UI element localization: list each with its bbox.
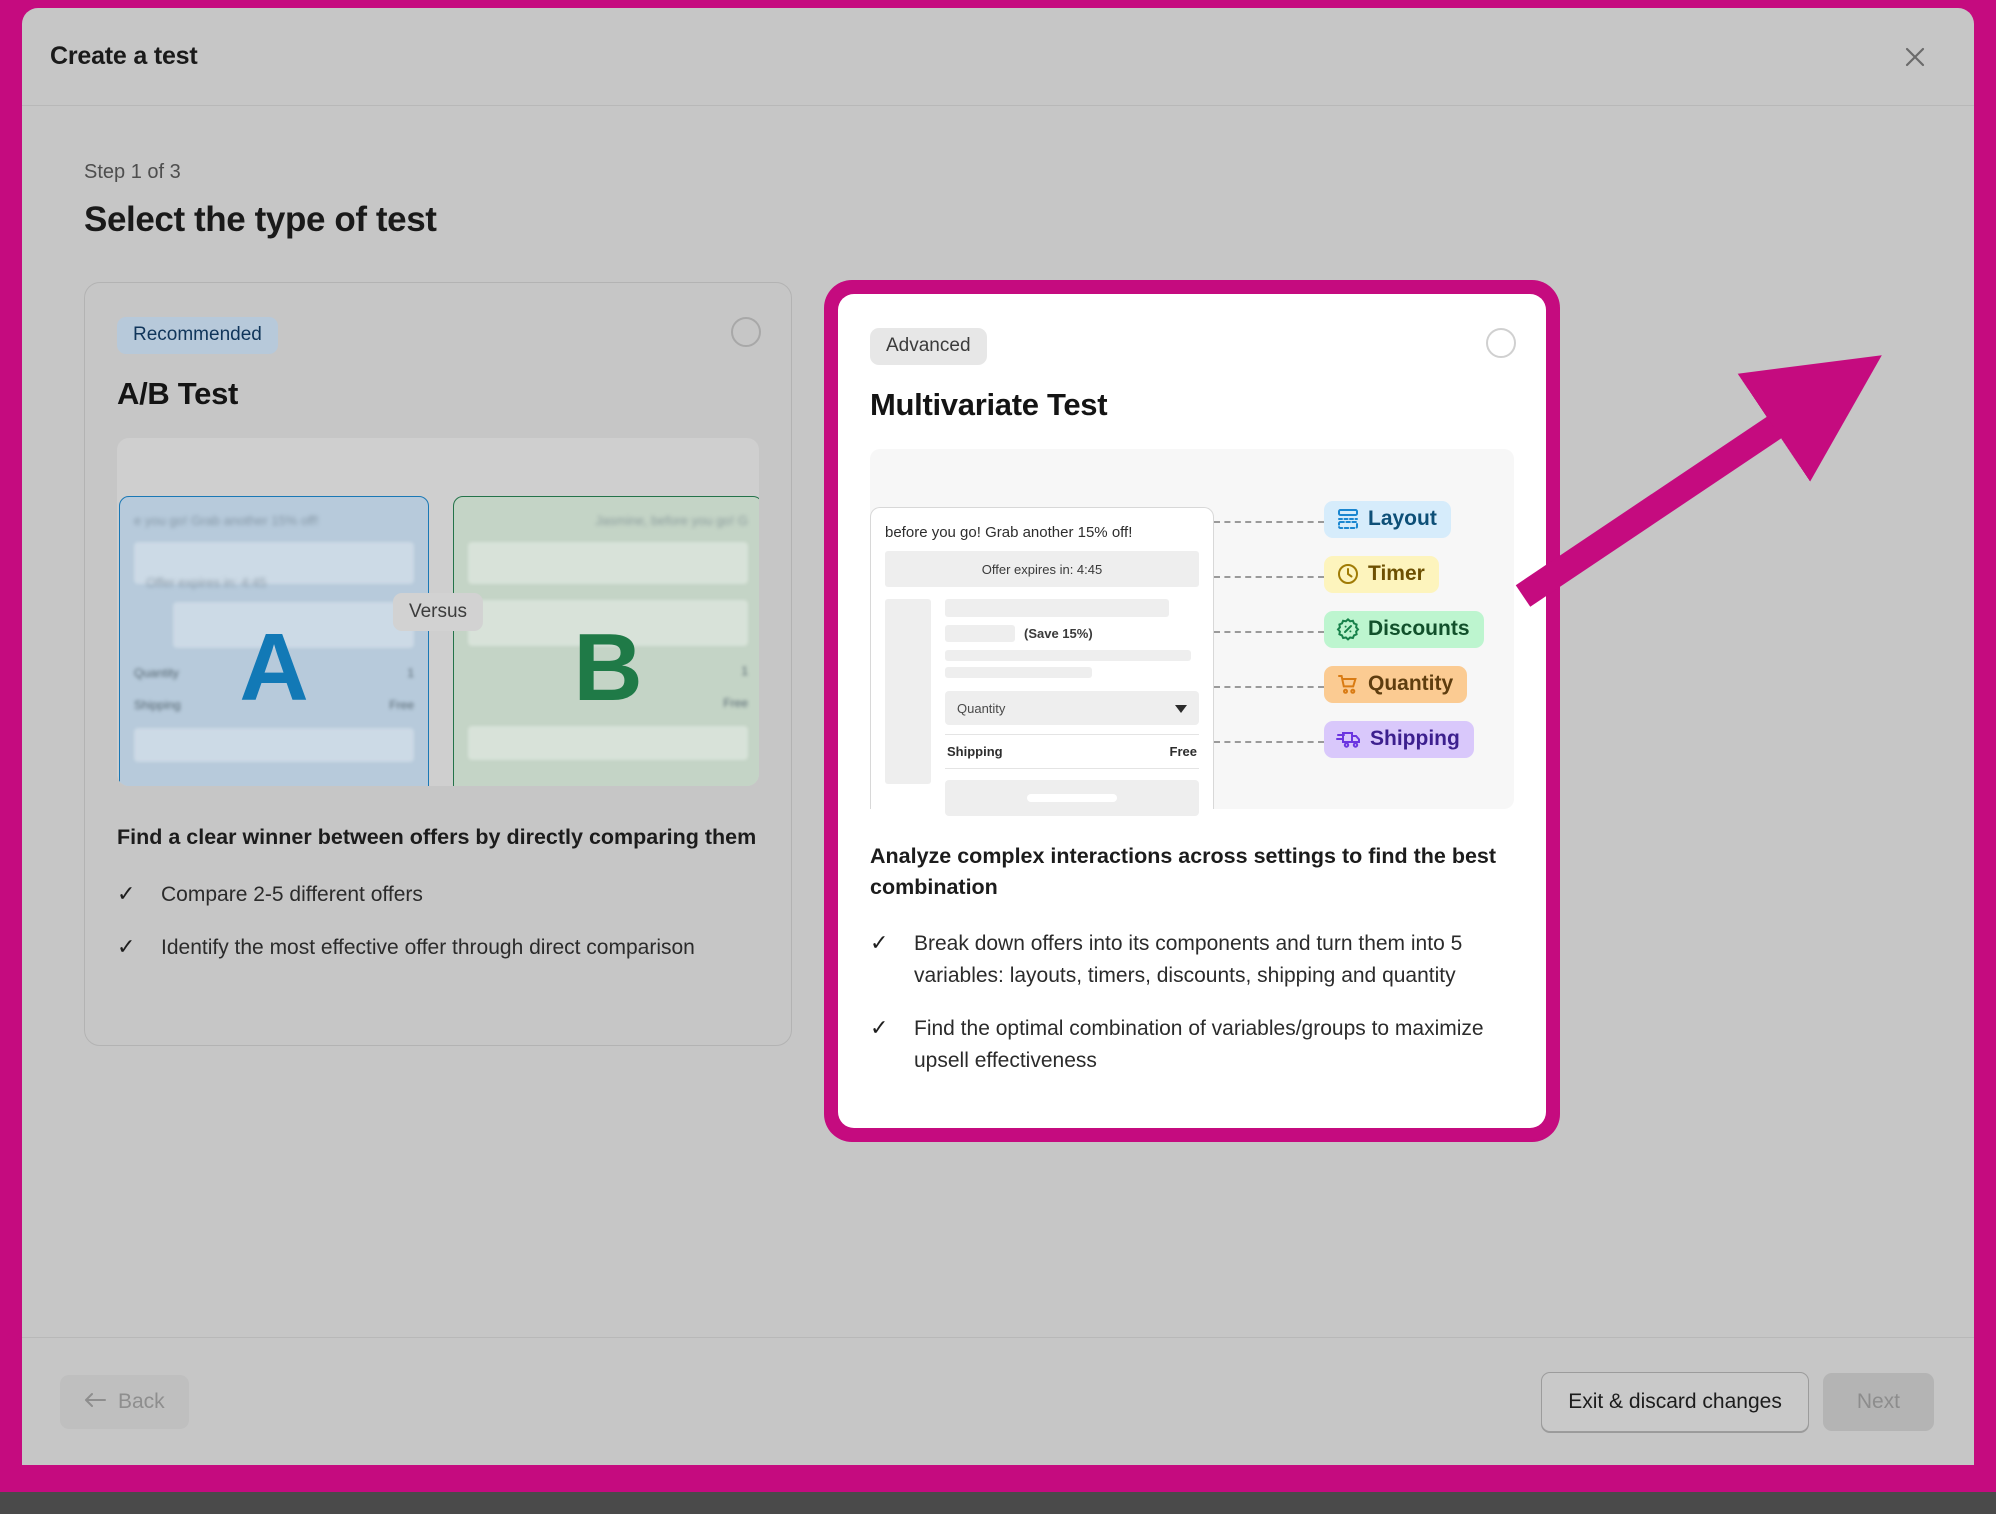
mv-timer-bar: Offer expires in: 4:45 bbox=[885, 551, 1199, 587]
ab-letter-b: B bbox=[573, 620, 642, 716]
check-icon: ✓ bbox=[870, 1013, 890, 1076]
ab-a-row2-label: Shipping bbox=[134, 698, 181, 712]
modal-footer: Back Exit & discard changes Next bbox=[22, 1337, 1974, 1465]
exit-discard-button[interactable]: Exit & discard changes bbox=[1541, 1372, 1809, 1432]
list-item: ✓ Identify the most effective offer thro… bbox=[117, 932, 759, 964]
feature-text: Compare 2-5 different offers bbox=[161, 879, 423, 911]
list-item: ✓ Break down offers into its components … bbox=[870, 928, 1514, 991]
feature-text: Break down offers into its components an… bbox=[914, 928, 1514, 991]
chip-label: Timer bbox=[1368, 562, 1425, 586]
mv-shipping-row: Shipping Free bbox=[945, 734, 1199, 769]
ab-b-headline: Jasmine, before you go! G bbox=[468, 513, 748, 528]
card-multivariate-test[interactable]: Advanced Multivariate Test before you go… bbox=[838, 294, 1546, 1128]
card-description-multivariate: Analyze complex interactions across sett… bbox=[870, 841, 1514, 902]
ab-variant-b: Jasmine, before you go! G 1 Free B bbox=[453, 496, 759, 786]
mv-cta-button bbox=[945, 780, 1199, 816]
chevron-down-icon bbox=[1175, 701, 1187, 716]
layout-icon bbox=[1336, 507, 1360, 531]
card-description-ab: Find a clear winner between offers by di… bbox=[117, 822, 759, 853]
discount-icon bbox=[1336, 617, 1360, 641]
back-label: Back bbox=[118, 1390, 165, 1414]
list-item: ✓ Compare 2-5 different offers bbox=[117, 879, 759, 911]
cart-icon bbox=[1336, 672, 1360, 696]
badge-recommended: Recommended bbox=[117, 317, 278, 354]
test-type-cards: Recommended A/B Test e you go! Grab anot… bbox=[84, 282, 1926, 1140]
chip-timer: Timer bbox=[1324, 556, 1439, 593]
chip-discounts: Discounts bbox=[1324, 611, 1484, 648]
modal-header: Create a test bbox=[22, 8, 1974, 106]
chip-shipping: Shipping bbox=[1324, 721, 1474, 758]
arrow-left-icon bbox=[84, 1390, 106, 1414]
modal-body: Step 1 of 3 Select the type of test Reco… bbox=[22, 106, 1974, 1337]
list-item: ✓ Find the optimal combination of variab… bbox=[870, 1013, 1514, 1076]
feature-list-multivariate: ✓ Break down offers into its components … bbox=[870, 928, 1514, 1076]
radio-multivariate-test[interactable] bbox=[1486, 328, 1516, 358]
close-icon bbox=[1902, 44, 1928, 70]
ab-a-row1-label: Quantity bbox=[134, 666, 179, 680]
card-ab-test[interactable]: Recommended A/B Test e you go! Grab anot… bbox=[84, 282, 792, 1046]
card-title-multivariate: Multivariate Test bbox=[870, 387, 1514, 423]
chip-layout: Layout bbox=[1324, 501, 1451, 538]
card-title-ab: A/B Test bbox=[117, 376, 759, 412]
radio-ab-test[interactable] bbox=[731, 317, 761, 347]
modal-title: Create a test bbox=[50, 42, 197, 71]
mv-headline: before you go! Grab another 15% off! bbox=[885, 524, 1199, 541]
ab-letter-a: A bbox=[239, 620, 308, 716]
ab-variant-a: e you go! Grab another 15% off! Offer ex… bbox=[119, 496, 429, 786]
chip-label: Layout bbox=[1368, 507, 1437, 531]
chip-label: Quantity bbox=[1368, 672, 1453, 696]
close-button[interactable] bbox=[1894, 36, 1936, 78]
badge-advanced: Advanced bbox=[870, 328, 987, 365]
step-label: Step 1 of 3 bbox=[84, 161, 1926, 184]
mv-shipping-label: Shipping bbox=[947, 744, 1003, 759]
mv-variable-labels: Layout Time bbox=[1214, 449, 1514, 809]
next-button[interactable]: Next bbox=[1823, 1373, 1934, 1431]
ab-a-row2-value: Free bbox=[389, 698, 414, 712]
mv-quantity-select[interactable]: Quantity bbox=[945, 691, 1199, 725]
feature-list-ab: ✓ Compare 2-5 different offers ✓ Identif… bbox=[117, 879, 759, 964]
feature-text: Identify the most effective offer throug… bbox=[161, 932, 695, 964]
mv-product-thumb bbox=[885, 599, 931, 784]
mv-save-text: (Save 15%) bbox=[1024, 626, 1093, 641]
ab-a-timer: Offer expires in: 4:45 bbox=[146, 575, 266, 590]
mv-shipping-value: Free bbox=[1170, 744, 1197, 759]
versus-chip: Versus bbox=[393, 593, 483, 631]
feature-text: Find the optimal combination of variable… bbox=[914, 1013, 1514, 1076]
check-icon: ✓ bbox=[117, 932, 137, 964]
highlight-ring: Advanced Multivariate Test before you go… bbox=[826, 282, 1558, 1140]
ab-a-headline: e you go! Grab another 15% off! bbox=[134, 513, 414, 528]
check-icon: ✓ bbox=[117, 879, 137, 911]
mv-quantity-label: Quantity bbox=[957, 701, 1005, 716]
page-title: Select the type of test bbox=[84, 200, 1926, 240]
footer-actions: Exit & discard changes Next bbox=[1541, 1372, 1934, 1432]
chip-quantity: Quantity bbox=[1324, 666, 1467, 703]
check-icon: ✓ bbox=[870, 928, 890, 991]
chip-label: Discounts bbox=[1368, 617, 1470, 641]
ab-preview-image: e you go! Grab another 15% off! Offer ex… bbox=[117, 438, 759, 786]
clock-icon bbox=[1336, 562, 1360, 586]
create-test-modal: Create a test Step 1 of 3 Select the typ… bbox=[22, 8, 1974, 1465]
annotation-frame: Create a test Step 1 of 3 Select the typ… bbox=[0, 0, 1996, 1514]
truck-icon bbox=[1336, 727, 1362, 751]
back-button[interactable]: Back bbox=[60, 1375, 189, 1429]
multivariate-preview-image: before you go! Grab another 15% off! Off… bbox=[870, 449, 1514, 809]
chip-label: Shipping bbox=[1370, 727, 1460, 751]
mv-offer-mock: before you go! Grab another 15% off! Off… bbox=[870, 507, 1214, 809]
